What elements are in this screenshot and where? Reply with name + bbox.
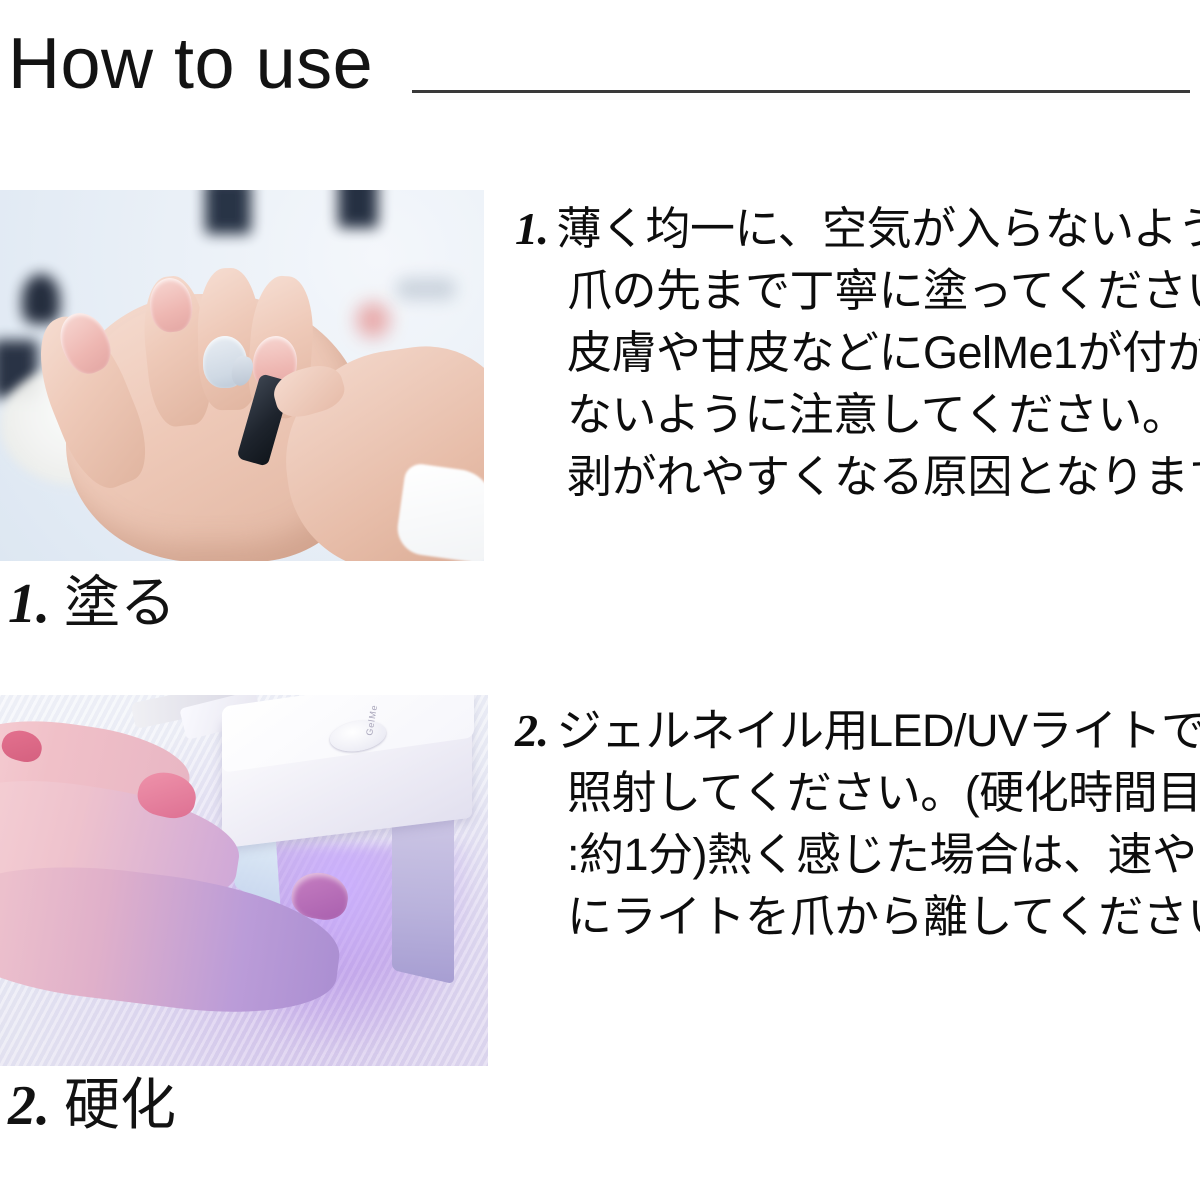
page-title: How to use [8, 28, 373, 100]
instruction-text: ジェルネイル用LED/UVライトで [557, 705, 1200, 756]
blurred-bottle-icon [338, 190, 378, 228]
instruction-line: 剥がれやすくなる原因となります。 [515, 446, 1200, 508]
step-2-number: 2. [515, 705, 549, 756]
instruction-line: 1.薄く均一に、空気が入らないように [515, 198, 1200, 260]
step-2-caption-text: 硬化 [64, 1073, 176, 1136]
blurred-bottle-icon [205, 190, 251, 234]
instruction-text: 薄く均一に、空気が入らないように [557, 203, 1200, 254]
blurred-accessory-icon [356, 302, 390, 338]
instruction-line: :約1分)熱く感じた場合は、速やか [515, 824, 1200, 886]
tissue [394, 462, 484, 561]
step-2-instructions: 2.ジェルネイル用LED/UVライトで 照射してください。(硬化時間目安 :約1… [515, 700, 1200, 948]
title-divider-rule [412, 90, 1190, 93]
blurred-bottle-icon [22, 274, 60, 324]
step-2-caption: 2.硬化 [8, 1077, 176, 1134]
instruction-line: ないように注意してください。 [515, 384, 1200, 446]
instruction-line: 2.ジェルネイル用LED/UVライトで [515, 700, 1200, 762]
instruction-line: 皮膚や甘皮などにGelMe1が付か [515, 322, 1200, 384]
page-header: How to use [0, 0, 1200, 170]
step-2-photo: GelMe [0, 695, 488, 1066]
blurred-accessory-icon [396, 278, 456, 300]
step-2-caption-number: 2. [8, 1075, 50, 1137]
step-1-caption-number: 1. [8, 573, 50, 635]
step-1-caption: 1.塗る [8, 575, 176, 632]
step-1-caption-text: 塗る [64, 571, 176, 634]
step-1-number: 1. [515, 203, 549, 254]
instruction-line: にライトを爪から離してください。 [515, 886, 1200, 948]
instruction-line: 照射してください。(硬化時間目安 [515, 762, 1200, 824]
lamp-leg-right [392, 800, 454, 984]
step-1-instructions: 1.薄く均一に、空気が入らないように 爪の先まで丁寧に塗ってください。 皮膚や甘… [515, 198, 1200, 508]
instruction-line: 爪の先まで丁寧に塗ってください。 [515, 260, 1200, 322]
step-1-photo [0, 190, 484, 561]
